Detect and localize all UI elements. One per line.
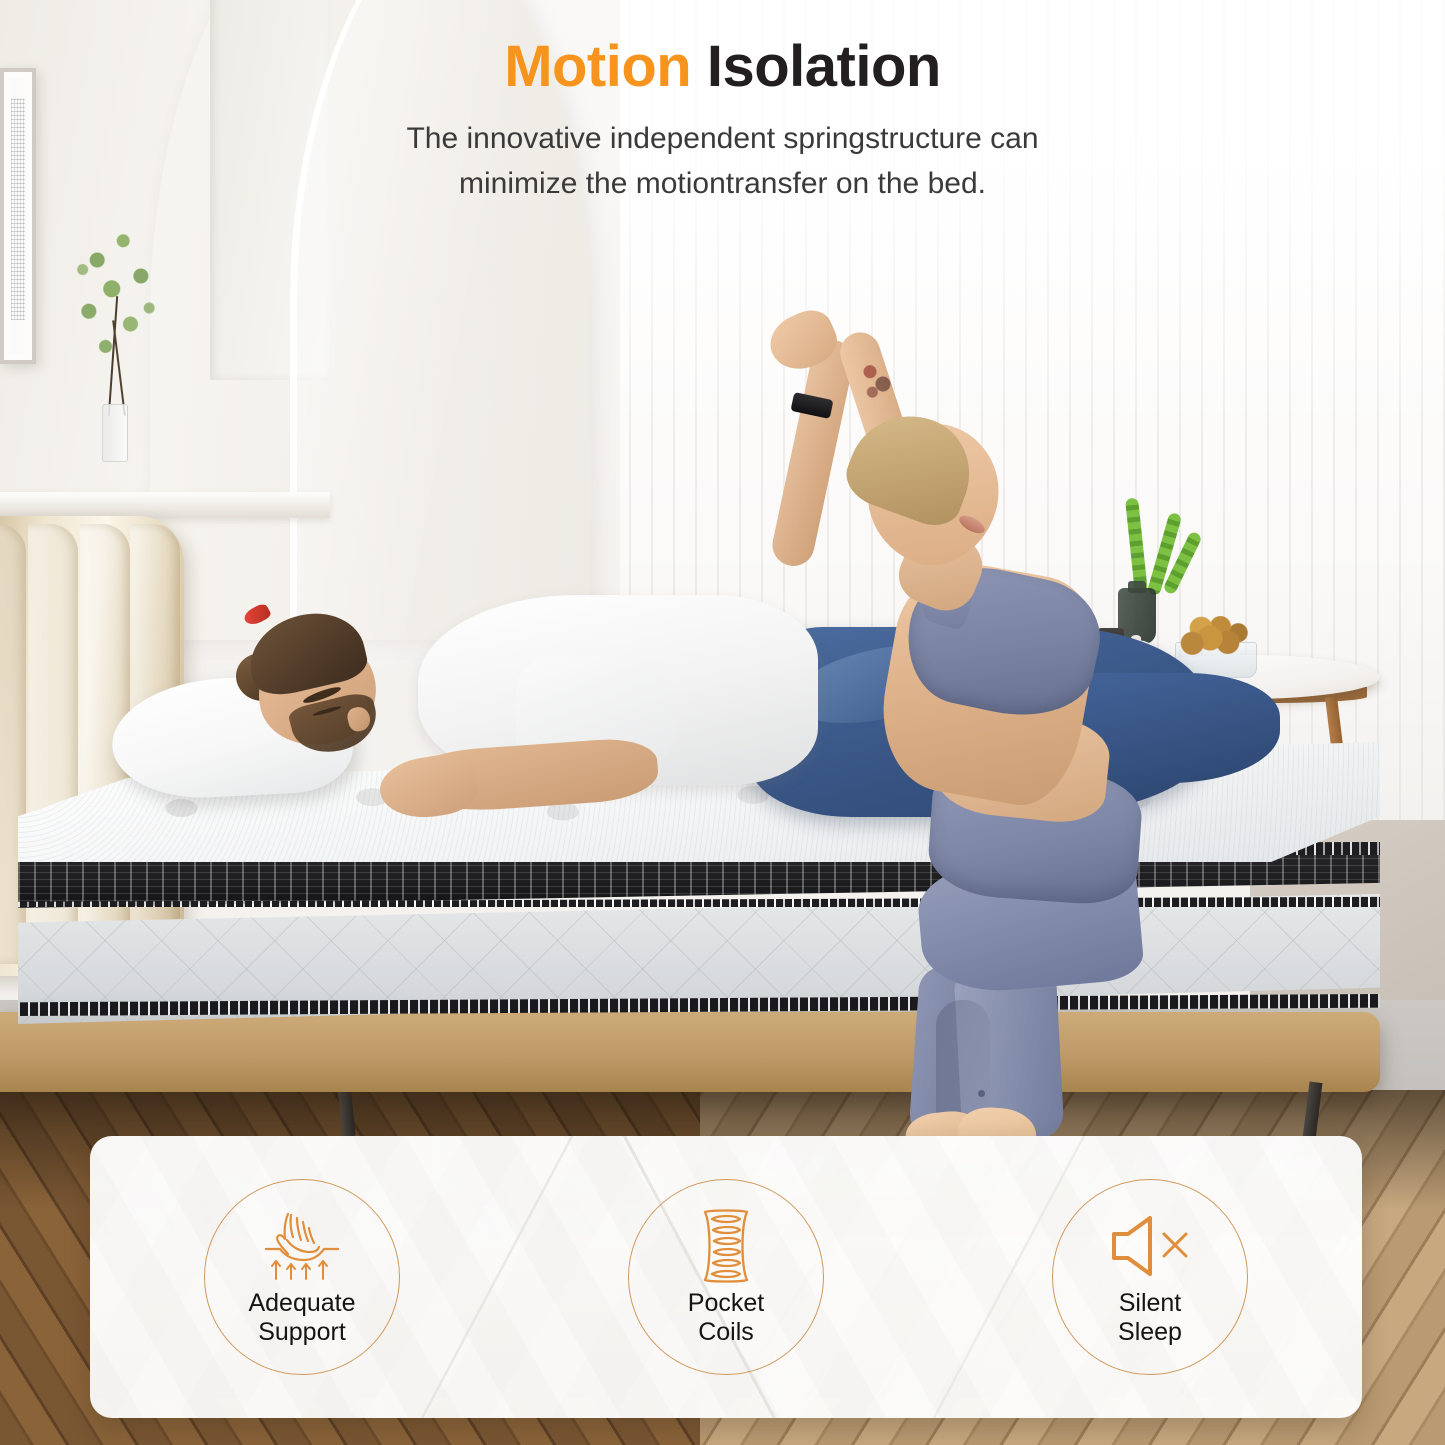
feature-badge-label: Pocket Coils	[688, 1289, 764, 1347]
woman-raised-arm	[769, 336, 858, 570]
badge-label-line-1: Silent	[1118, 1289, 1182, 1318]
badge-label-line-2: Sleep	[1118, 1318, 1182, 1347]
subtitle-line-1: The innovative independent springstructu…	[0, 116, 1445, 161]
feature-badge-label: Silent Sleep	[1118, 1289, 1182, 1347]
page-title: Motion Isolation	[0, 38, 1445, 96]
headline-block: Motion Isolation The innovative independ…	[0, 38, 1445, 206]
badge-label-line-1: Adequate	[248, 1289, 355, 1318]
feature-badge-pocket-coils[interactable]: Pocket Coils	[628, 1179, 824, 1375]
red-accent	[242, 602, 272, 628]
title-accent-word: Motion	[504, 34, 691, 99]
product-feature-banner: Motion Isolation The innovative independ…	[0, 0, 1445, 1445]
subtitle: The innovative independent springstructu…	[0, 116, 1445, 206]
badge-label-line-2: Support	[248, 1318, 355, 1347]
title-main-word: Isolation	[707, 34, 941, 99]
plant-foliage-icon	[66, 212, 170, 372]
badge-label-line-1: Pocket	[688, 1289, 764, 1318]
hand-pressing-support-arrows-icon	[256, 1207, 348, 1285]
pocket-coil-spring-icon	[680, 1207, 772, 1285]
muted-speaker-icon	[1104, 1207, 1196, 1285]
feature-badge-silent-sleep[interactable]: Silent Sleep	[1052, 1179, 1248, 1375]
feature-badge-adequate-support[interactable]: Adequate Support	[204, 1179, 400, 1375]
subtitle-line-2: minimize the motiontransfer on the bed.	[0, 161, 1445, 206]
man-hand	[376, 750, 482, 825]
niche-plant	[62, 212, 172, 462]
fruit-pile	[1179, 616, 1253, 660]
woman-stretching	[740, 300, 1140, 1200]
wall-ledge	[0, 492, 330, 518]
woman-ankle-detail	[978, 1090, 985, 1097]
badge-label-line-2: Coils	[688, 1318, 764, 1347]
feature-badge-label: Adequate Support	[248, 1289, 355, 1347]
glass-vase	[102, 404, 128, 462]
feature-panel: Adequate Support Pocket Coils	[90, 1136, 1362, 1418]
